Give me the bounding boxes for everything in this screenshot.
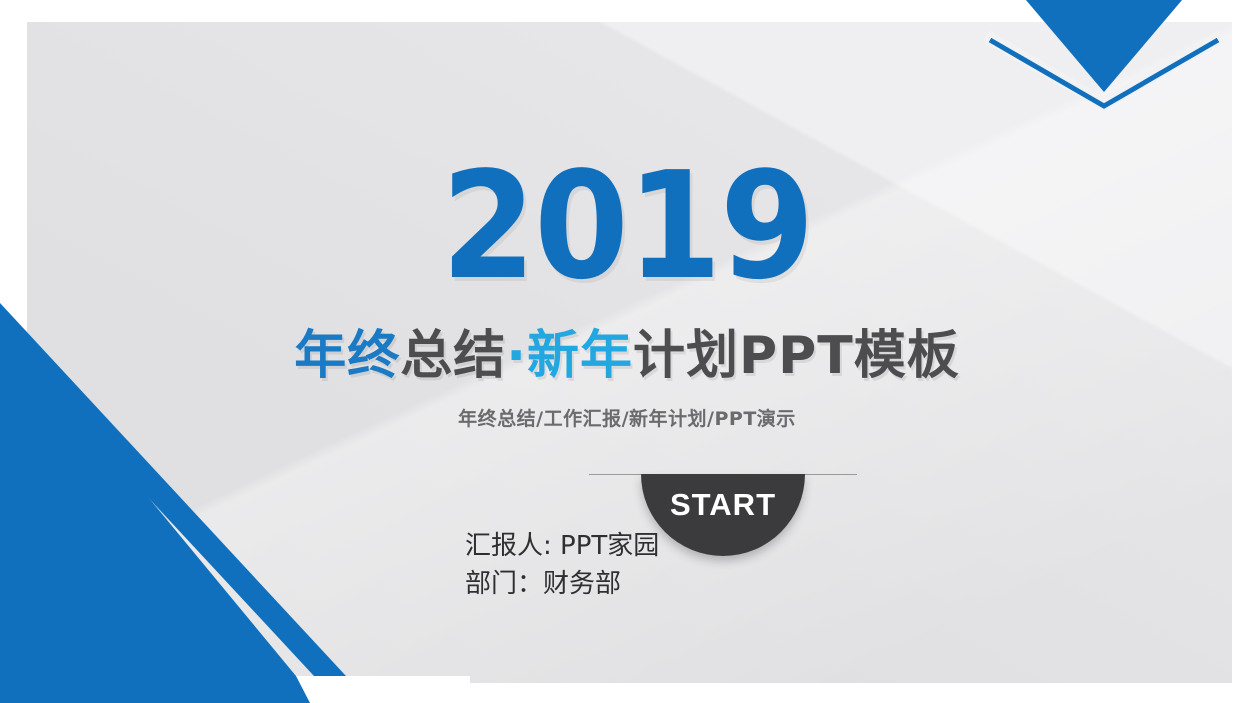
slide-content: 2019 年终总结·新年计划PPT模板 年终总结/工作汇报/新年计划/PPT演示…: [0, 0, 1254, 703]
headline-segment-1: 年终: [294, 326, 400, 386]
headline-segment-3: ·新年: [506, 326, 633, 386]
presenter-info: 汇报人: PPT家园 部门：财务部: [465, 527, 659, 603]
year-heading: 2019: [50, 152, 1204, 300]
presenter-department-line: 部门：财务部: [465, 565, 659, 603]
presenter-name-line: 汇报人: PPT家园: [465, 527, 659, 565]
headline-segment-2: 总结: [400, 326, 506, 386]
subtitle-text: 年终总结/工作汇报/新年计划/PPT演示: [0, 406, 1254, 432]
presentation-slide: 2019 年终总结·新年计划PPT模板 年终总结/工作汇报/新年计划/PPT演示…: [0, 0, 1254, 703]
headline-segment-4: 计划PPT模板: [633, 326, 960, 386]
main-headline: 年终总结·新年计划PPT模板: [0, 325, 1254, 387]
start-button-label: START: [641, 488, 805, 522]
start-button[interactable]: START: [641, 474, 805, 556]
